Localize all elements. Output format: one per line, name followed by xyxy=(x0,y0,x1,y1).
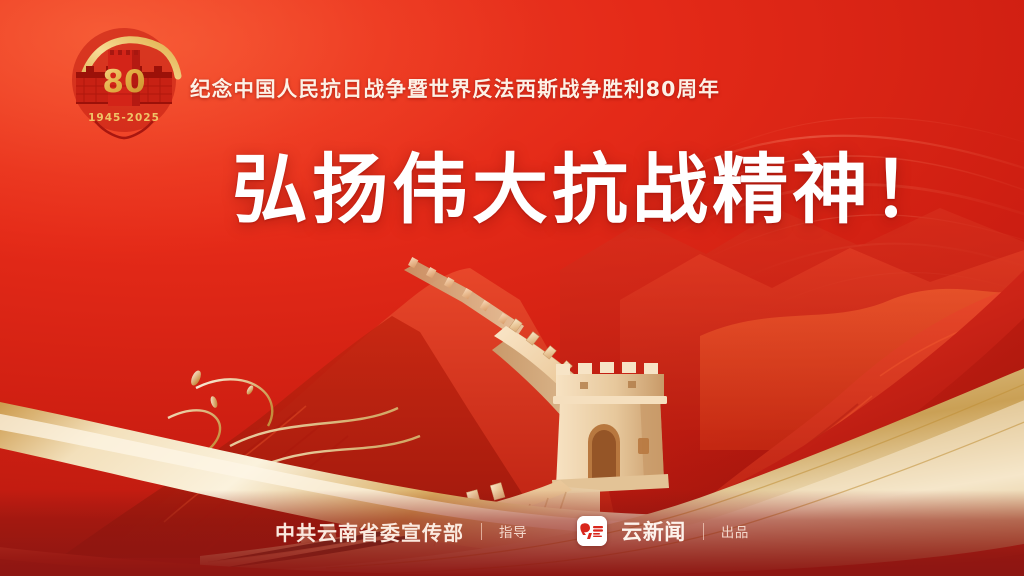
footer: 中共云南省委宣传部 指导 云新闻 xyxy=(0,516,1024,546)
footer-brand-role: 出品 xyxy=(721,521,749,541)
anniversary-emblem: 80 1945-2025 xyxy=(62,22,186,142)
footer-organization: 中共云南省委宣传部 xyxy=(275,517,464,546)
watchtower xyxy=(552,362,669,494)
emblem-years: 1945-2025 xyxy=(88,112,160,124)
footer-brand: 云新闻 xyxy=(621,516,686,546)
footer-separator-1 xyxy=(481,523,482,540)
footer-separator-2 xyxy=(703,523,704,540)
yunnews-logo-icon xyxy=(577,516,607,546)
poster-canvas: 80 1945-2025 纪念中国人民抗日战争暨世界反法西斯战争胜利80周年 弘… xyxy=(0,0,1024,576)
footer-organization-role: 指导 xyxy=(499,521,527,541)
emblem-number: 80 xyxy=(102,64,145,100)
subtitle-text: 纪念中国人民抗日战争暨世界反法西斯战争胜利80周年 xyxy=(190,72,720,102)
yunnews-logo xyxy=(577,516,607,546)
page-title: 弘扬伟大抗战精神！ xyxy=(232,152,952,228)
